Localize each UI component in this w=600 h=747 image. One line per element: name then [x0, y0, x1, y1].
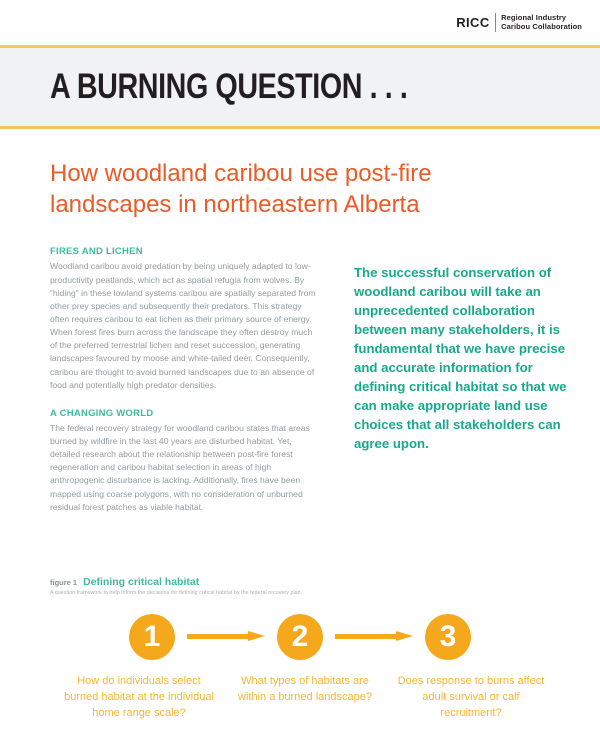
- ricc-logo: RICC Regional Industry Caribou Collabora…: [456, 13, 582, 32]
- flow-arrow-1-icon: [187, 631, 265, 642]
- flow-captions: How do individuals select burned habitat…: [50, 674, 560, 722]
- flow-caption-1: How do individuals select burned habitat…: [56, 674, 222, 722]
- subtitle: How woodland caribou use post-fire lands…: [50, 159, 500, 220]
- logo-wordmark: RICC: [456, 15, 494, 30]
- figure-caption-line: figure 1 Defining critical habitat: [50, 576, 560, 588]
- content-columns: FIRES AND LICHEN Woodland caribou avoid …: [0, 220, 600, 529]
- flow-node-2: 2: [277, 614, 323, 660]
- section-heading-fires-and-lichen: FIRES AND LICHEN: [50, 246, 320, 257]
- figure-block: figure 1 Defining critical habitat A que…: [0, 530, 600, 722]
- logo-tagline-line2: Caribou Collaboration: [501, 23, 582, 32]
- logo-tagline: Regional Industry Caribou Collaboration: [501, 14, 582, 32]
- figure-label: figure 1: [50, 578, 77, 587]
- flow-node-3: 3: [425, 614, 471, 660]
- flow-node-1: 1: [129, 614, 175, 660]
- header-logo-bar: RICC Regional Industry Caribou Collabora…: [0, 0, 600, 45]
- pullquote: The successful conservation of woodland …: [354, 263, 582, 453]
- subtitle-container: How woodland caribou use post-fire lands…: [0, 129, 600, 220]
- section-heading-a-changing-world: A CHANGING WORLD: [50, 408, 320, 419]
- flow-arrow-2-icon: [335, 631, 413, 642]
- left-column: FIRES AND LICHEN Woodland caribou avoid …: [50, 246, 350, 529]
- flow-diagram: 1 2 3: [50, 614, 560, 660]
- section-body-a-changing-world: The federal recovery strategy for woodla…: [50, 422, 320, 514]
- flow-caption-2: What types of habitats are within a burn…: [222, 674, 388, 722]
- page-title: A BURNING QUESTION . . .: [50, 67, 407, 107]
- section-body-fires-and-lichen: Woodland caribou avoid predation by bein…: [50, 260, 320, 391]
- figure-title: Defining critical habitat: [83, 576, 199, 588]
- flow-caption-3: Does response to burns affect adult surv…: [388, 674, 554, 722]
- title-band: A BURNING QUESTION . . .: [0, 48, 600, 126]
- figure-subcaption: A question framework to help inform the …: [50, 590, 560, 596]
- right-column: The successful conservation of woodland …: [350, 246, 582, 529]
- logo-divider: [495, 13, 497, 32]
